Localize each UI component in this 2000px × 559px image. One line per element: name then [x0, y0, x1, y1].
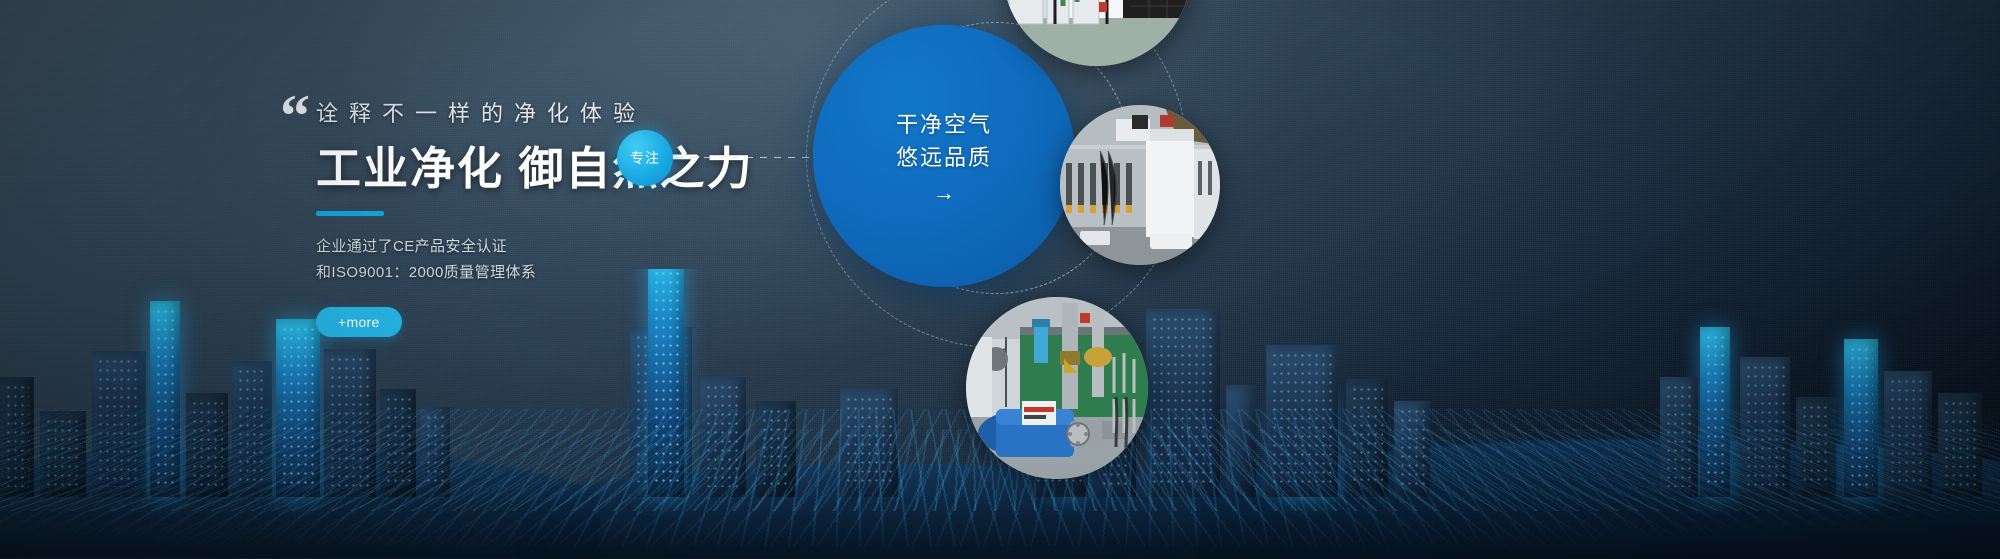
arrow-right-icon: →: [933, 182, 955, 204]
circle-line-1: 干净空气: [896, 108, 992, 141]
main-blue-circle[interactable]: 干净空气 悠远品质 →: [813, 25, 1075, 287]
circle-line-2: 悠远品质: [896, 141, 992, 174]
focus-badge[interactable]: 专注: [617, 130, 673, 186]
pressure-vessel-piping-photo[interactable]: [966, 297, 1148, 479]
focus-badge-label: 专注: [630, 148, 660, 168]
quote-mark-icon: “: [280, 86, 308, 146]
hero-banner: “ 诠释不一样的净化体验 工业净化 御自然之力 企业通过了CE产品安全认证 和I…: [0, 0, 2000, 559]
more-button[interactable]: +more: [316, 307, 402, 337]
accent-divider: [316, 211, 384, 216]
textile-machinery-photo[interactable]: [1060, 105, 1220, 265]
orbit-diagram: 专注 干净空气 悠远品质 →: [790, 0, 2000, 559]
